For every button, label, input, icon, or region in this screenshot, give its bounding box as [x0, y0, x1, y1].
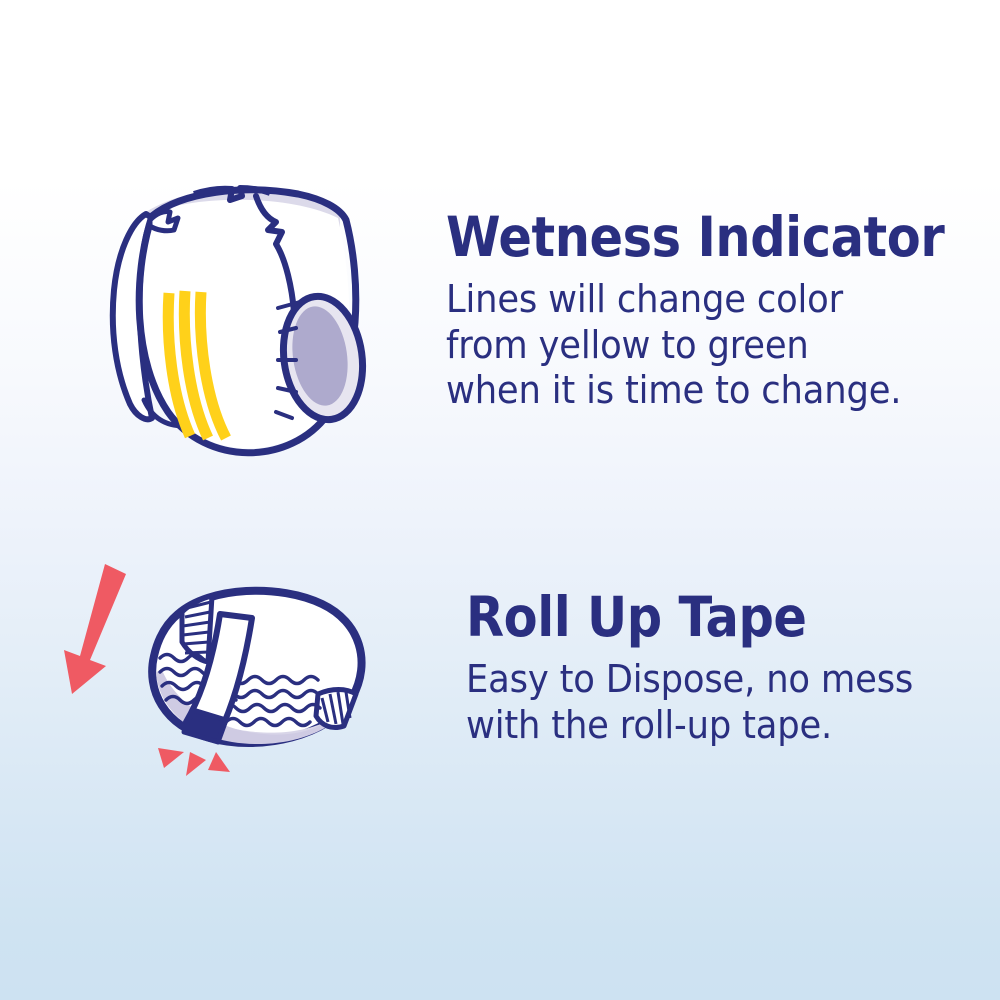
description-line: Lines will change color — [446, 277, 961, 323]
burst-mark — [186, 752, 206, 776]
roll-direction-arrow-icon — [64, 564, 126, 694]
wetness-indicator-illustration — [90, 160, 390, 465]
description-line: Easy to Dispose, no mess — [466, 657, 935, 703]
burst-mark — [158, 748, 184, 768]
secure-burst-marks — [158, 748, 230, 776]
roll-up-tape-copy: Roll Up Tape Easy to Dispose, no mess wi… — [466, 552, 970, 748]
feature-block-wetness-indicator: Wetness Indicator Lines will change colo… — [90, 160, 970, 465]
feature-description-roll-up-tape: Easy to Dispose, no mess with the roll-u… — [466, 657, 935, 748]
ribbed-cuff-right — [316, 690, 356, 728]
feature-title-roll-up-tape: Roll Up Tape — [466, 590, 920, 645]
burst-mark — [208, 752, 230, 772]
feature-title-wetness-indicator: Wetness Indicator — [446, 210, 944, 265]
roll-up-tape-illustration — [60, 552, 400, 797]
description-line: with the roll-up tape. — [466, 703, 935, 749]
feature-description-wetness-indicator: Lines will change color from yellow to g… — [446, 277, 961, 414]
description-line: from yellow to green — [446, 323, 961, 369]
rolled-diaper-svg — [60, 552, 400, 792]
diaper-front-svg — [90, 160, 390, 460]
feature-block-roll-up-tape: Roll Up Tape Easy to Dispose, no mess wi… — [60, 552, 970, 797]
infographic-canvas: Wetness Indicator Lines will change colo… — [0, 0, 1000, 1000]
description-line: when it is time to change. — [446, 368, 961, 414]
wetness-indicator-copy: Wetness Indicator Lines will change colo… — [446, 160, 1000, 414]
ribbed-cuff-left — [182, 596, 212, 662]
